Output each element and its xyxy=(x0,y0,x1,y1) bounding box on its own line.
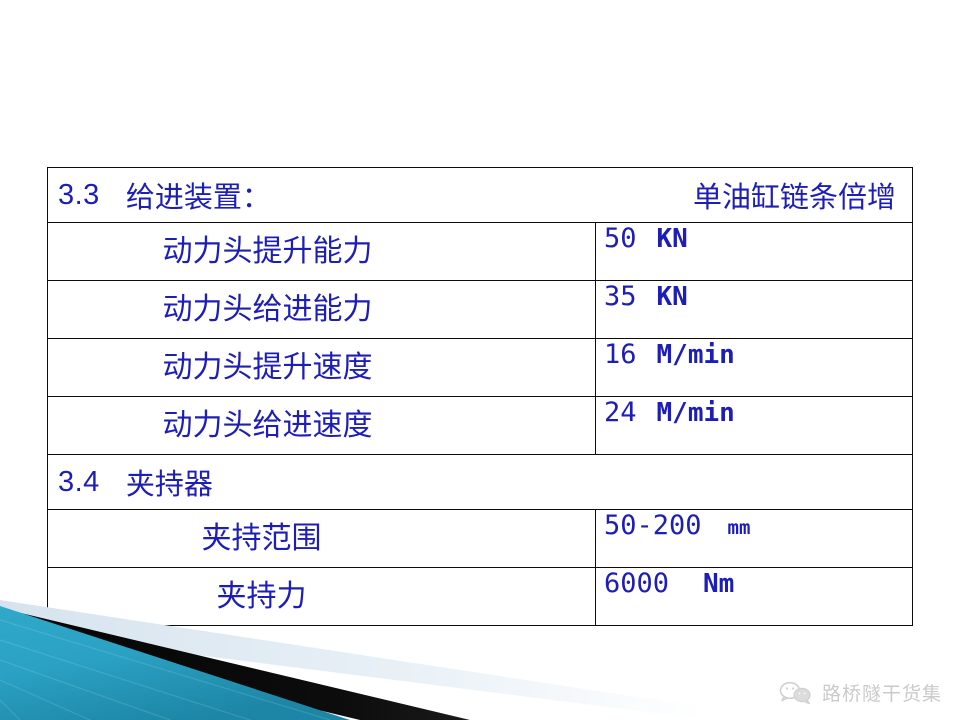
row-label-cell: 动力头给进速度 xyxy=(48,397,596,455)
row-label-cell: 动力头给进能力 xyxy=(48,281,596,339)
row-label-cell: 动力头提升能力 xyxy=(48,223,596,281)
row-label-cell: 动力头提升速度 xyxy=(48,339,596,397)
section-header-cell: 3.4 夹持器 xyxy=(48,455,913,510)
row-label: 动力头给进速度 xyxy=(48,397,595,454)
row-value: 50-200 xyxy=(604,510,702,541)
row-label: 动力头提升能力 xyxy=(48,223,595,280)
row-value-content: 50-200 mm xyxy=(596,510,912,567)
row-value-unit: KN xyxy=(657,224,688,254)
row-label: 夹持范围 xyxy=(48,510,595,567)
section-title: 夹持器 xyxy=(126,461,213,503)
row-value-content: 50 KN xyxy=(596,223,912,280)
row-value-content: 24 M/min xyxy=(596,397,912,454)
table-row: 动力头给进速度 24 M/min xyxy=(48,397,913,455)
row-label: 动力头提升速度 xyxy=(48,339,595,396)
row-value-unit: KN xyxy=(657,282,688,312)
section-header-content: 3.3 给进装置： 单油缸链条倍增 xyxy=(48,168,912,222)
section-header-cell: 3.3 给进装置： 单油缸链条倍增 xyxy=(48,168,913,223)
table-row: 动力头给进能力 35 KN xyxy=(48,281,913,339)
watermark-text: 路桥隧干货集 xyxy=(822,679,942,706)
row-label: 夹持力 xyxy=(48,568,595,625)
row-label-cell: 夹持范围 xyxy=(48,510,596,568)
table-row: 动力头提升速度 16 M/min xyxy=(48,339,913,397)
row-value-content: 16 M/min xyxy=(596,339,912,396)
row-value-unit: M/min xyxy=(657,398,735,428)
row-value: 50 xyxy=(604,223,637,254)
section-number: 3.4 xyxy=(58,466,100,499)
row-value-cell: 16 M/min xyxy=(596,339,913,397)
section-header-row: 3.3 给进装置： 单油缸链条倍增 xyxy=(48,168,913,223)
section-header-row: 3.4 夹持器 xyxy=(48,455,913,510)
row-value: 24 xyxy=(604,397,637,428)
section-title: 给进装置： xyxy=(126,174,271,216)
row-value-unit: Nm xyxy=(703,569,734,599)
slide-canvas: 3.3 给进装置： 单油缸链条倍增 动力头提升能力 50 KN xyxy=(0,0,960,720)
table-body: 3.3 给进装置： 单油缸链条倍增 动力头提升能力 50 KN xyxy=(48,168,913,626)
row-value: 16 xyxy=(604,339,637,370)
deco-teal-texture xyxy=(0,620,330,720)
row-value-content: 35 KN xyxy=(596,281,912,338)
table-row: 夹持力 6000 Nm xyxy=(48,568,913,626)
watermark: 路桥隧干货集 xyxy=(779,679,942,706)
table-row: 动力头提升能力 50 KN xyxy=(48,223,913,281)
row-label-cell: 夹持力 xyxy=(48,568,596,626)
row-value-unit: mm xyxy=(728,517,751,539)
row-label: 动力头给进能力 xyxy=(48,281,595,338)
section-right-value: 单油缸链条倍增 xyxy=(693,174,904,216)
row-value: 6000 xyxy=(604,568,669,599)
section-number: 3.3 xyxy=(58,179,100,212)
row-value-cell: 50 KN xyxy=(596,223,913,281)
row-value-cell: 50-200 mm xyxy=(596,510,913,568)
table-row: 夹持范围 50-200 mm xyxy=(48,510,913,568)
row-value-cell: 35 KN xyxy=(596,281,913,339)
row-value-cell: 24 M/min xyxy=(596,397,913,455)
wechat-bubble-icon xyxy=(779,681,813,705)
row-value-cell: 6000 Nm xyxy=(596,568,913,626)
row-value-content: 6000 Nm xyxy=(596,568,912,625)
row-value-unit: M/min xyxy=(657,340,735,370)
specifications-table: 3.3 给进装置： 单油缸链条倍增 动力头提升能力 50 KN xyxy=(47,167,913,626)
section-header-content: 3.4 夹持器 xyxy=(48,455,912,509)
row-value: 35 xyxy=(604,281,637,312)
